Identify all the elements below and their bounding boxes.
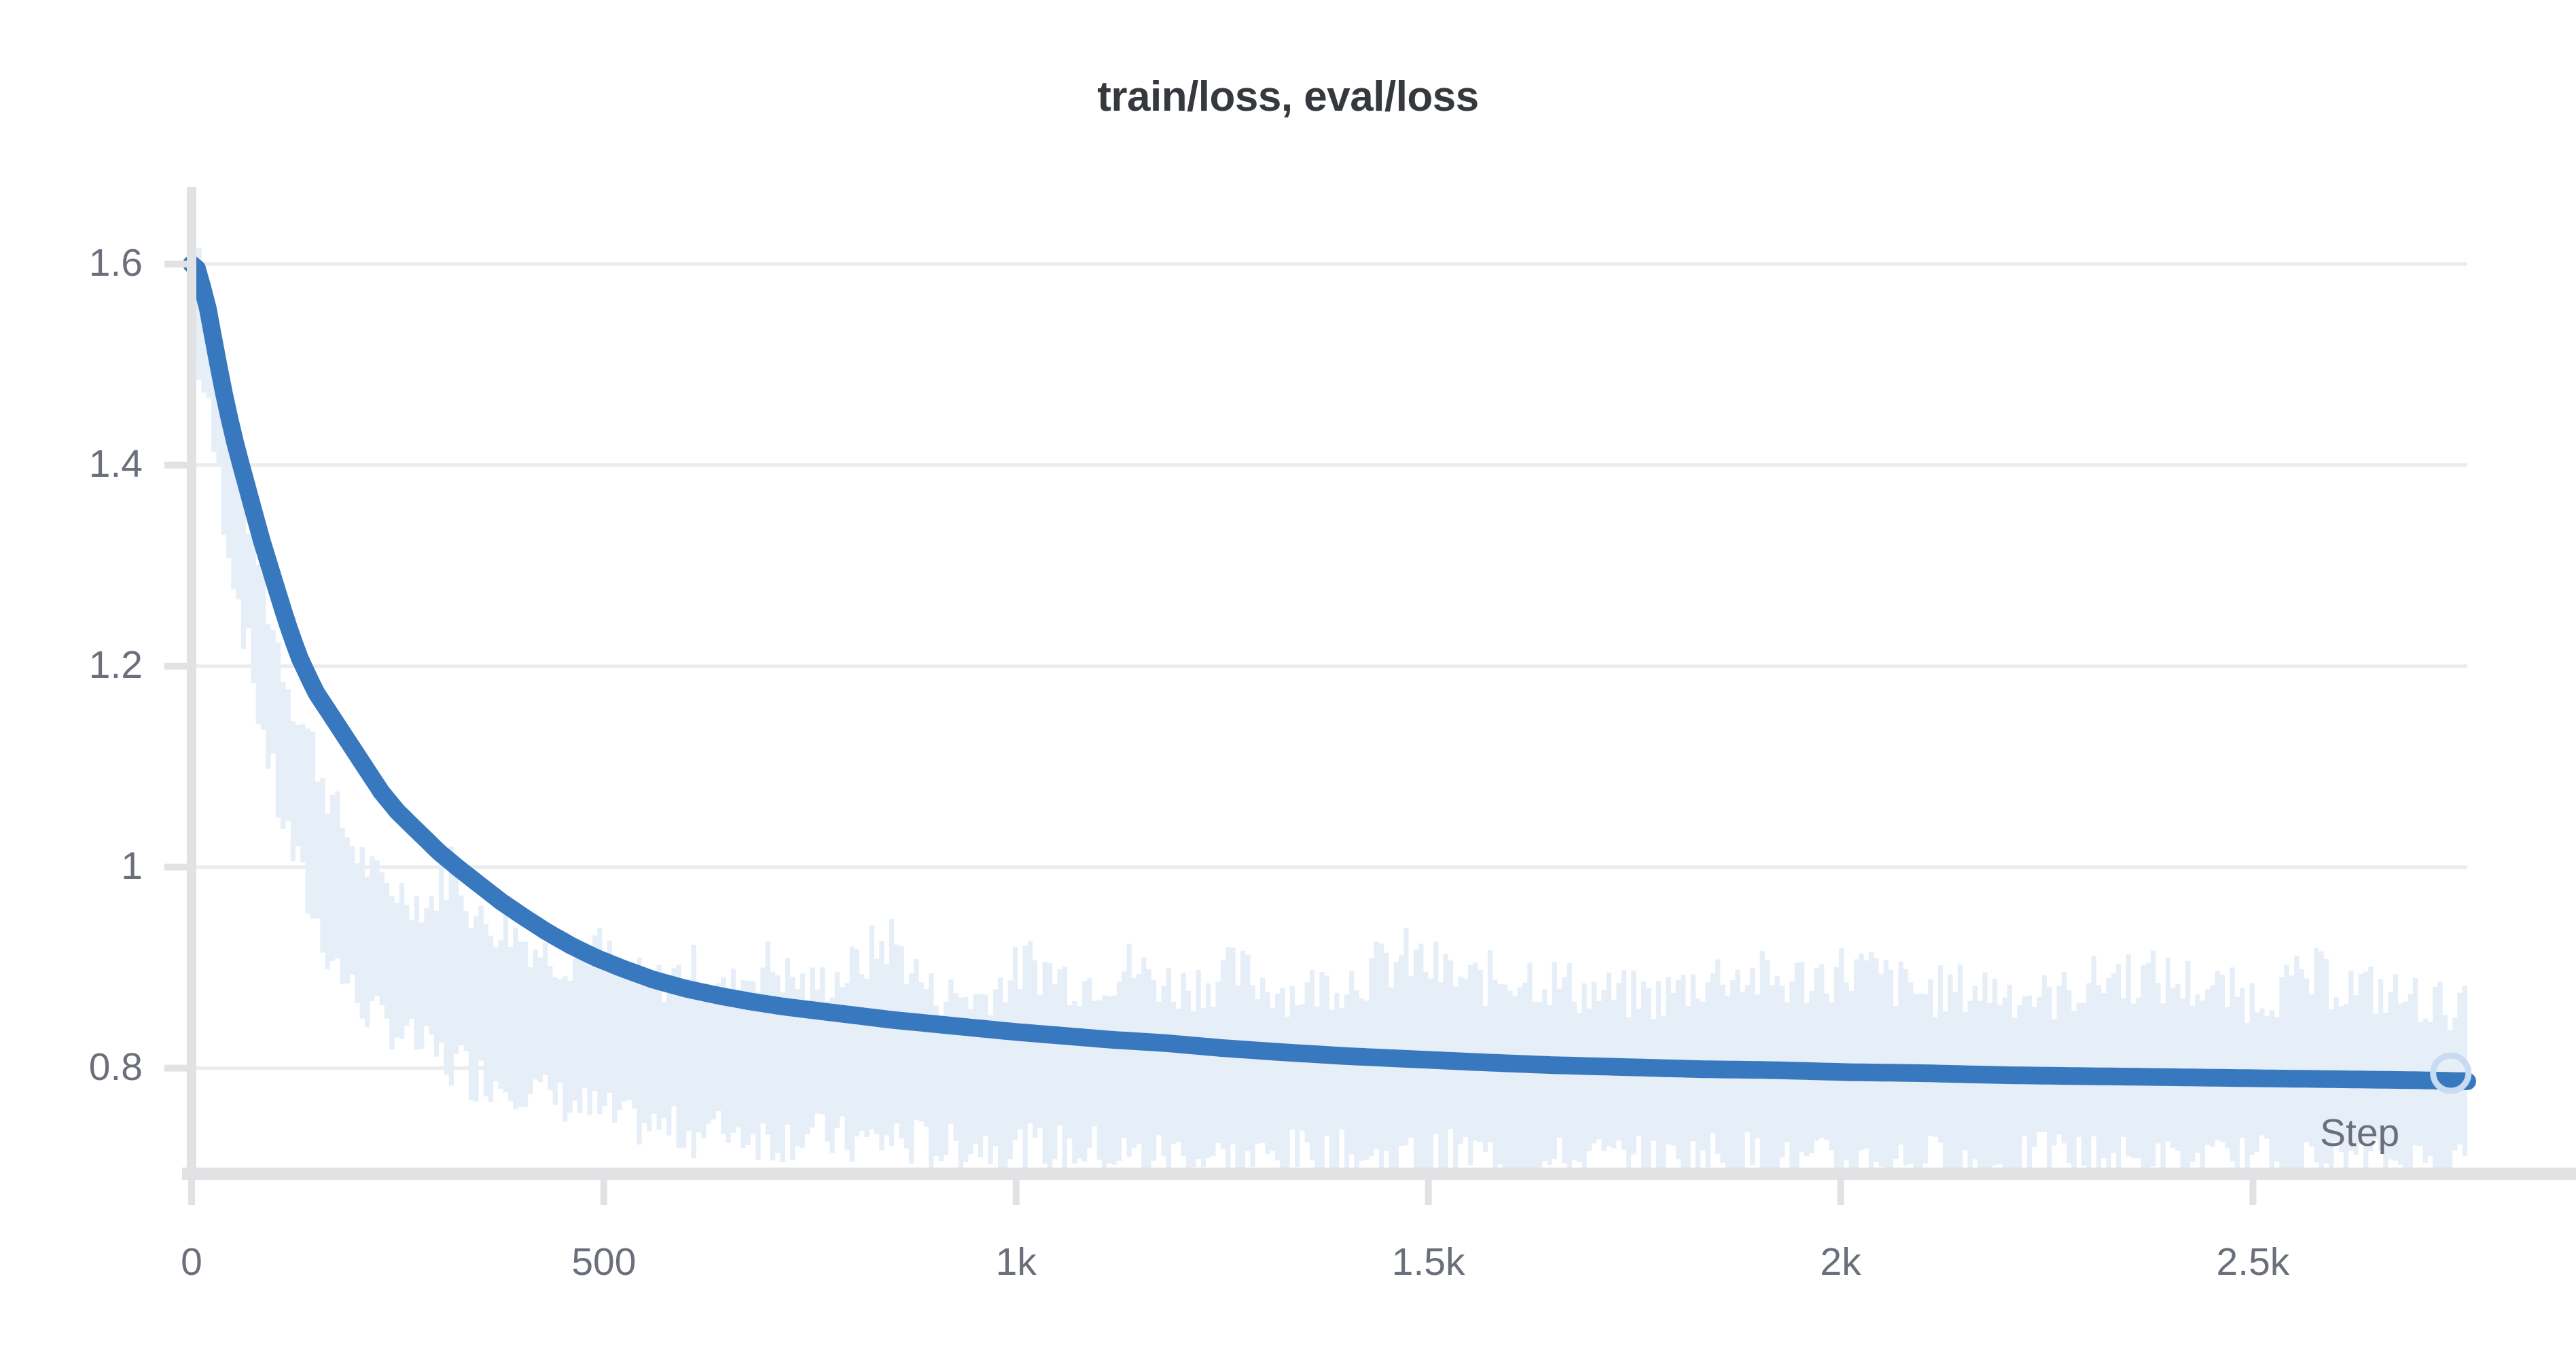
x-axis-tick-label: 1k xyxy=(914,1243,1118,1282)
y-axis-tick-label: 1.4 xyxy=(0,445,143,484)
x-axis-tick-label: 1.5k xyxy=(1327,1243,1531,1282)
raw-loss-band xyxy=(192,230,2467,1174)
y-axis-tick-label: 1.2 xyxy=(0,646,143,685)
x-axis-tick-label: 500 xyxy=(502,1243,706,1282)
y-axis-tick-label: 1 xyxy=(0,847,143,886)
x-axis-tick-label: 2k xyxy=(1739,1243,1943,1282)
y-axis-tick-label: 1.6 xyxy=(0,244,143,283)
x-axis-tick-label: 2.5k xyxy=(2151,1243,2355,1282)
x-axis-tick-label: 0 xyxy=(90,1243,293,1282)
x-axis-label: Step xyxy=(2320,1114,2399,1153)
plot-area xyxy=(0,0,2576,1353)
loss-chart: train/loss, eval/loss 1.61.41.210.805001… xyxy=(0,0,2576,1353)
y-axis-tick-label: 0.8 xyxy=(0,1048,143,1087)
